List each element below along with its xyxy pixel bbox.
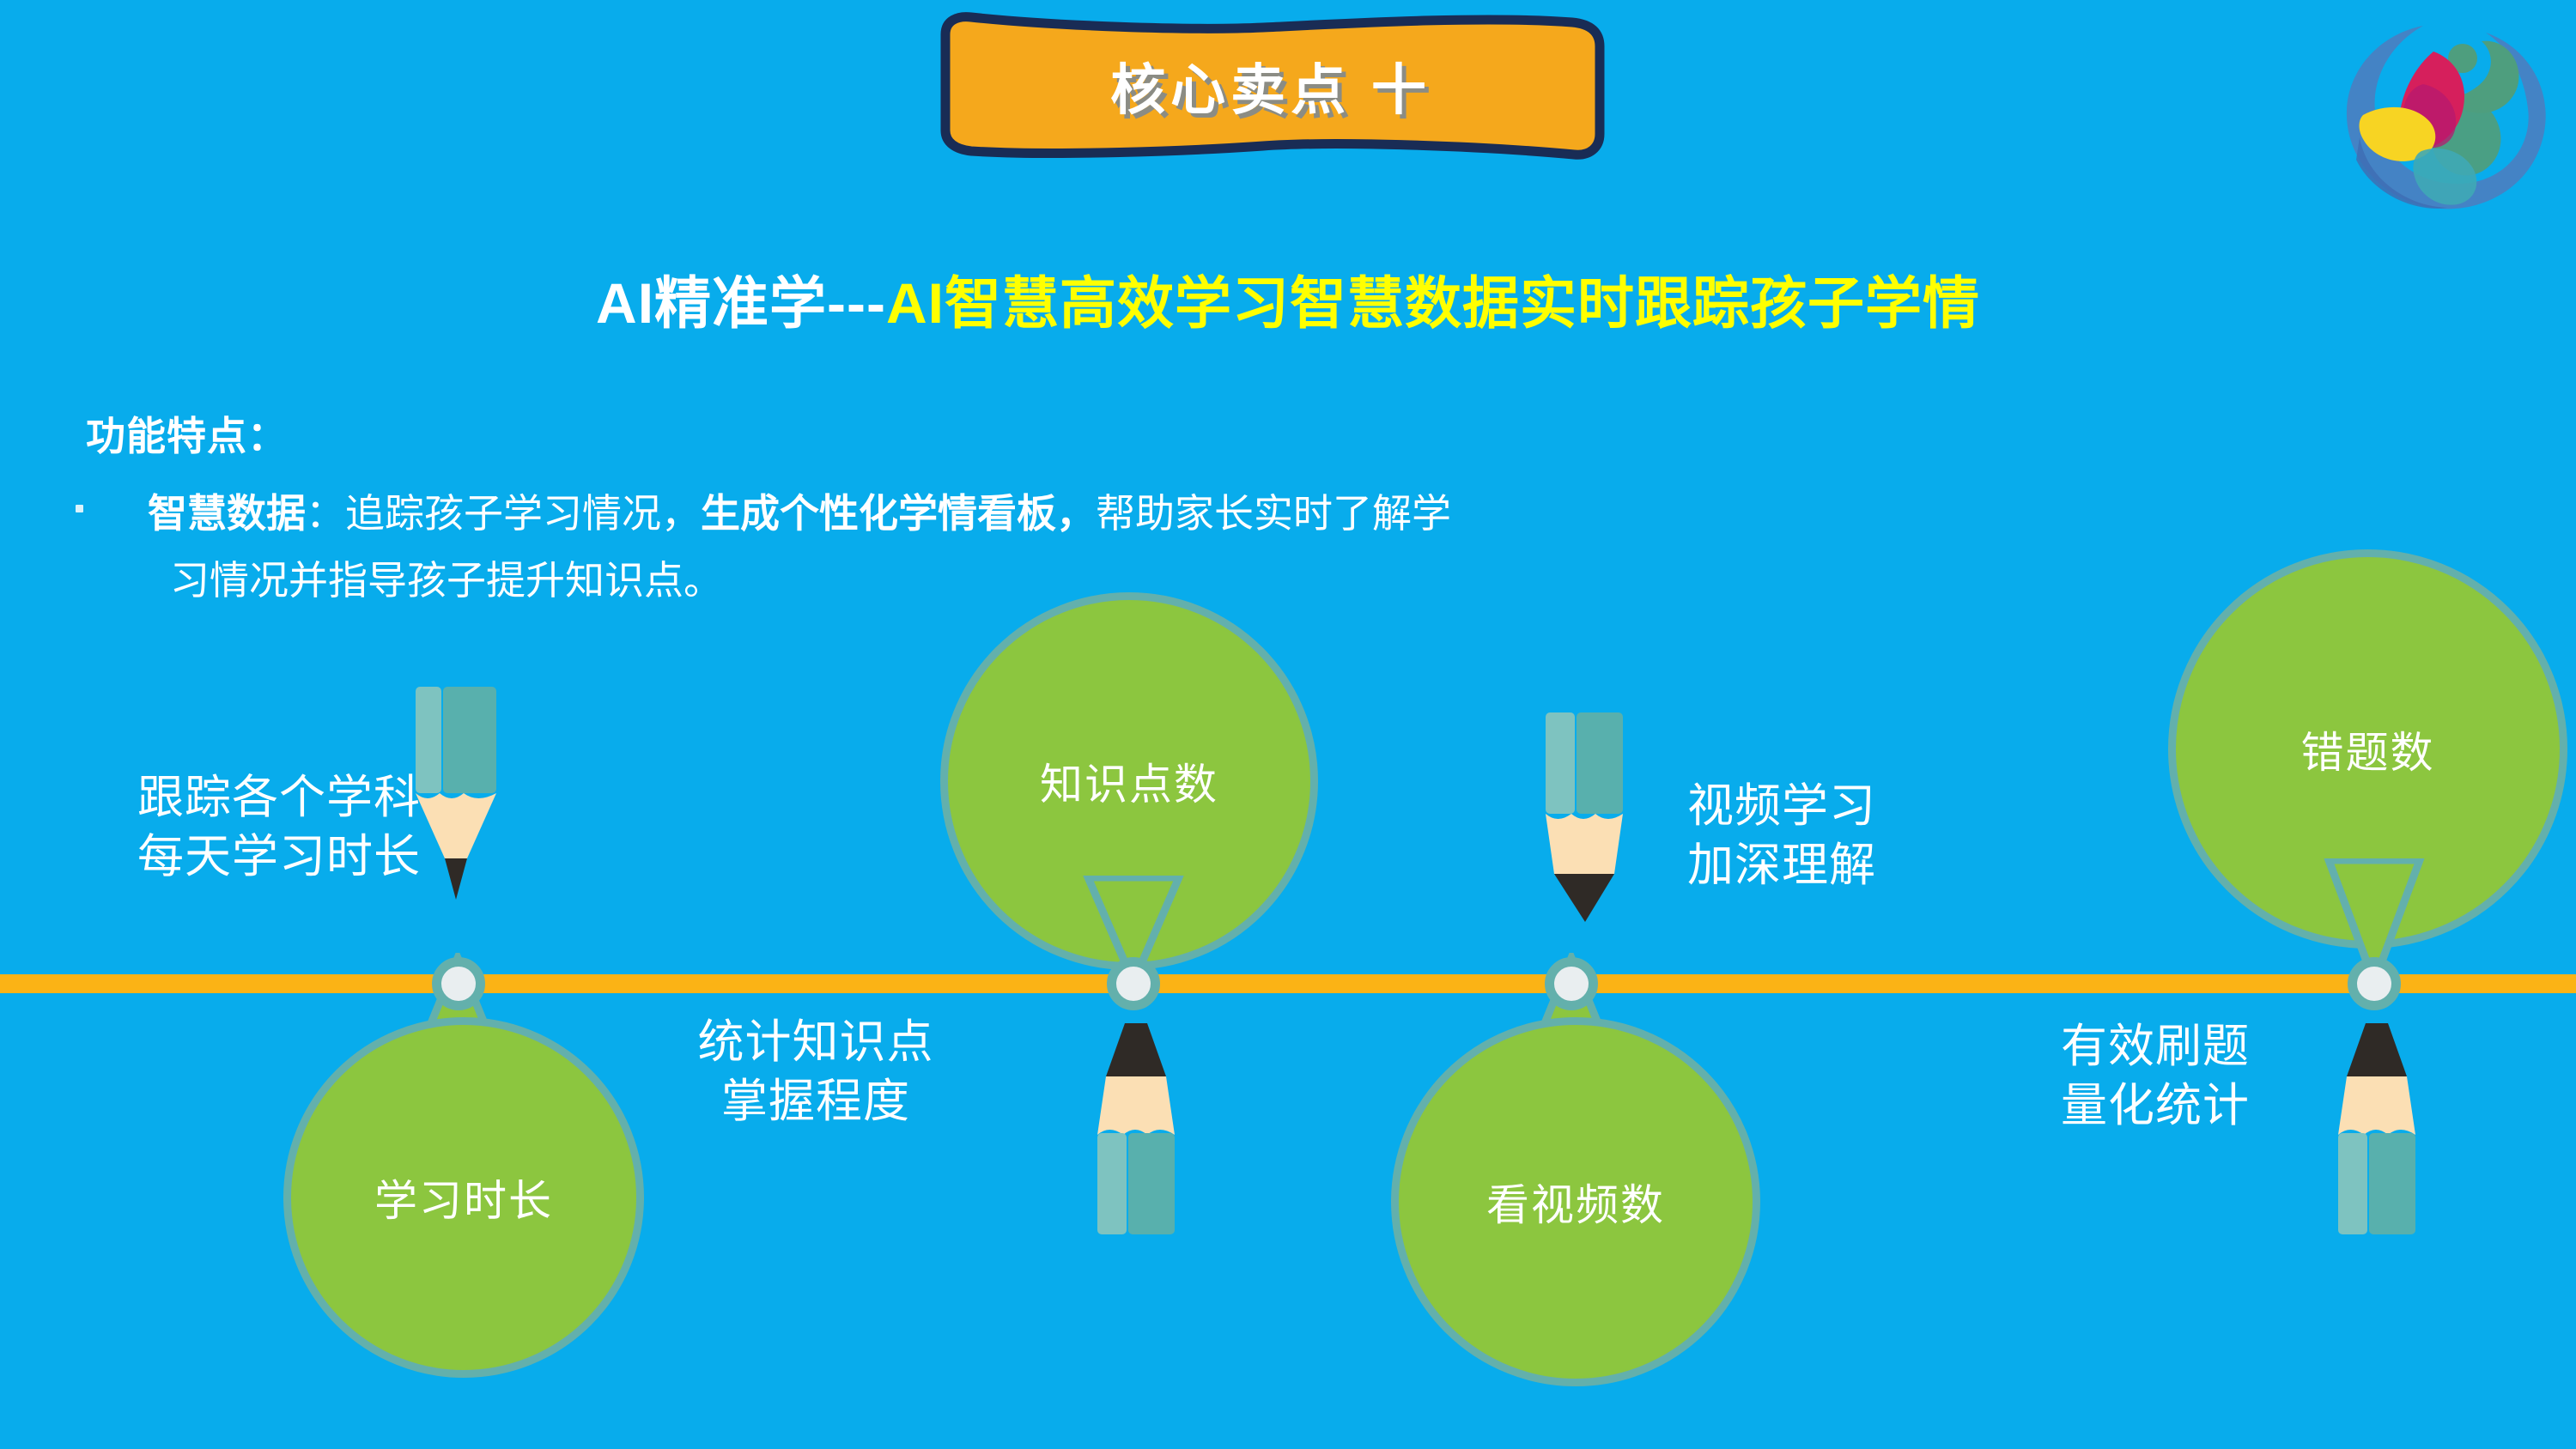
features-heading: 功能特点： [86, 405, 288, 462]
timeline-node-1[interactable] [432, 957, 485, 1010]
bubble-circle[interactable]: 看视频数 [1391, 1017, 1760, 1386]
bubble-circle[interactable]: 学习时长 [283, 1017, 644, 1378]
page-title-white: AI精准学--- [596, 271, 886, 335]
caption-line: 统计知识点 [592, 1013, 1039, 1072]
caption-study-duration: 跟踪各个学科 每天学习时长 [0, 768, 421, 887]
feature-bold-a: 智慧数据 [148, 491, 306, 536]
caption-line: 视频学习 [1687, 777, 2099, 836]
banner-ribbon: 核心卖点 十 [932, 9, 1610, 167]
pencil-icon-down-3 [1537, 712, 1631, 927]
feature-text-line-2: 习情况并指导孩子提升知识点。 [170, 549, 723, 606]
timeline-node-3[interactable] [1545, 957, 1598, 1010]
brand-logo [2310, 9, 2567, 215]
caption-line: 每天学习时长 [0, 828, 421, 887]
banner-label: 核心卖点 十 [932, 9, 1610, 167]
timeline-node-2[interactable] [1107, 957, 1160, 1010]
brand-logo-graphic [2310, 9, 2567, 215]
caption-line: 有效刷题 [1966, 1017, 2344, 1076]
slide-canvas: 核心卖点 十 AI精准学---AI智慧高效学习智慧数据实时跟踪孩子学情 功能特点… [0, 0, 2576, 1449]
bubble-video-count[interactable]: 看视频数 [1391, 1017, 1760, 1386]
caption-line: 量化统计 [1966, 1076, 2344, 1136]
pencil-icon-up-2 [1089, 1022, 1183, 1236]
feature-normal-b: 帮助家长实时了解学 [1096, 491, 1451, 536]
caption-knowledge-points: 统计知识点 掌握程度 [592, 1013, 1039, 1131]
timeline-bar [0, 974, 2576, 993]
caption-video-count: 视频学习 加深理解 [1687, 777, 2099, 895]
page-title: AI精准学---AI智慧高效学习智慧数据实时跟踪孩子学情 [0, 258, 2576, 340]
bubble-label: 学习时长 [374, 1167, 553, 1228]
caption-line: 掌握程度 [592, 1072, 1039, 1131]
caption-line: 加深理解 [1687, 836, 2099, 895]
timeline-node-4[interactable] [2348, 957, 2401, 1010]
page-title-yellow: AI智慧高效学习智慧数据实时跟踪孩子学情 [886, 271, 1980, 335]
caption-line: 跟踪各个学科 [0, 768, 421, 828]
caption-wrong-questions: 有效刷题 量化统计 [1966, 1017, 2344, 1136]
bubble-label: 错题数 [2301, 718, 2435, 780]
feature-bold-b: 生成个性化学情看板， [701, 491, 1096, 536]
bullet-point-icon [76, 505, 83, 512]
bubble-label: 看视频数 [1486, 1171, 1665, 1233]
bubble-study-duration[interactable]: 学习时长 [283, 1017, 644, 1378]
bubble-label: 知识点数 [1040, 750, 1218, 812]
feature-normal-a: ：追踪孩子学习情况， [306, 491, 701, 536]
feature-text-line-1: 智慧数据：追踪孩子学习情况，生成个性化学情看板，帮助家长实时了解学 [148, 482, 1451, 539]
